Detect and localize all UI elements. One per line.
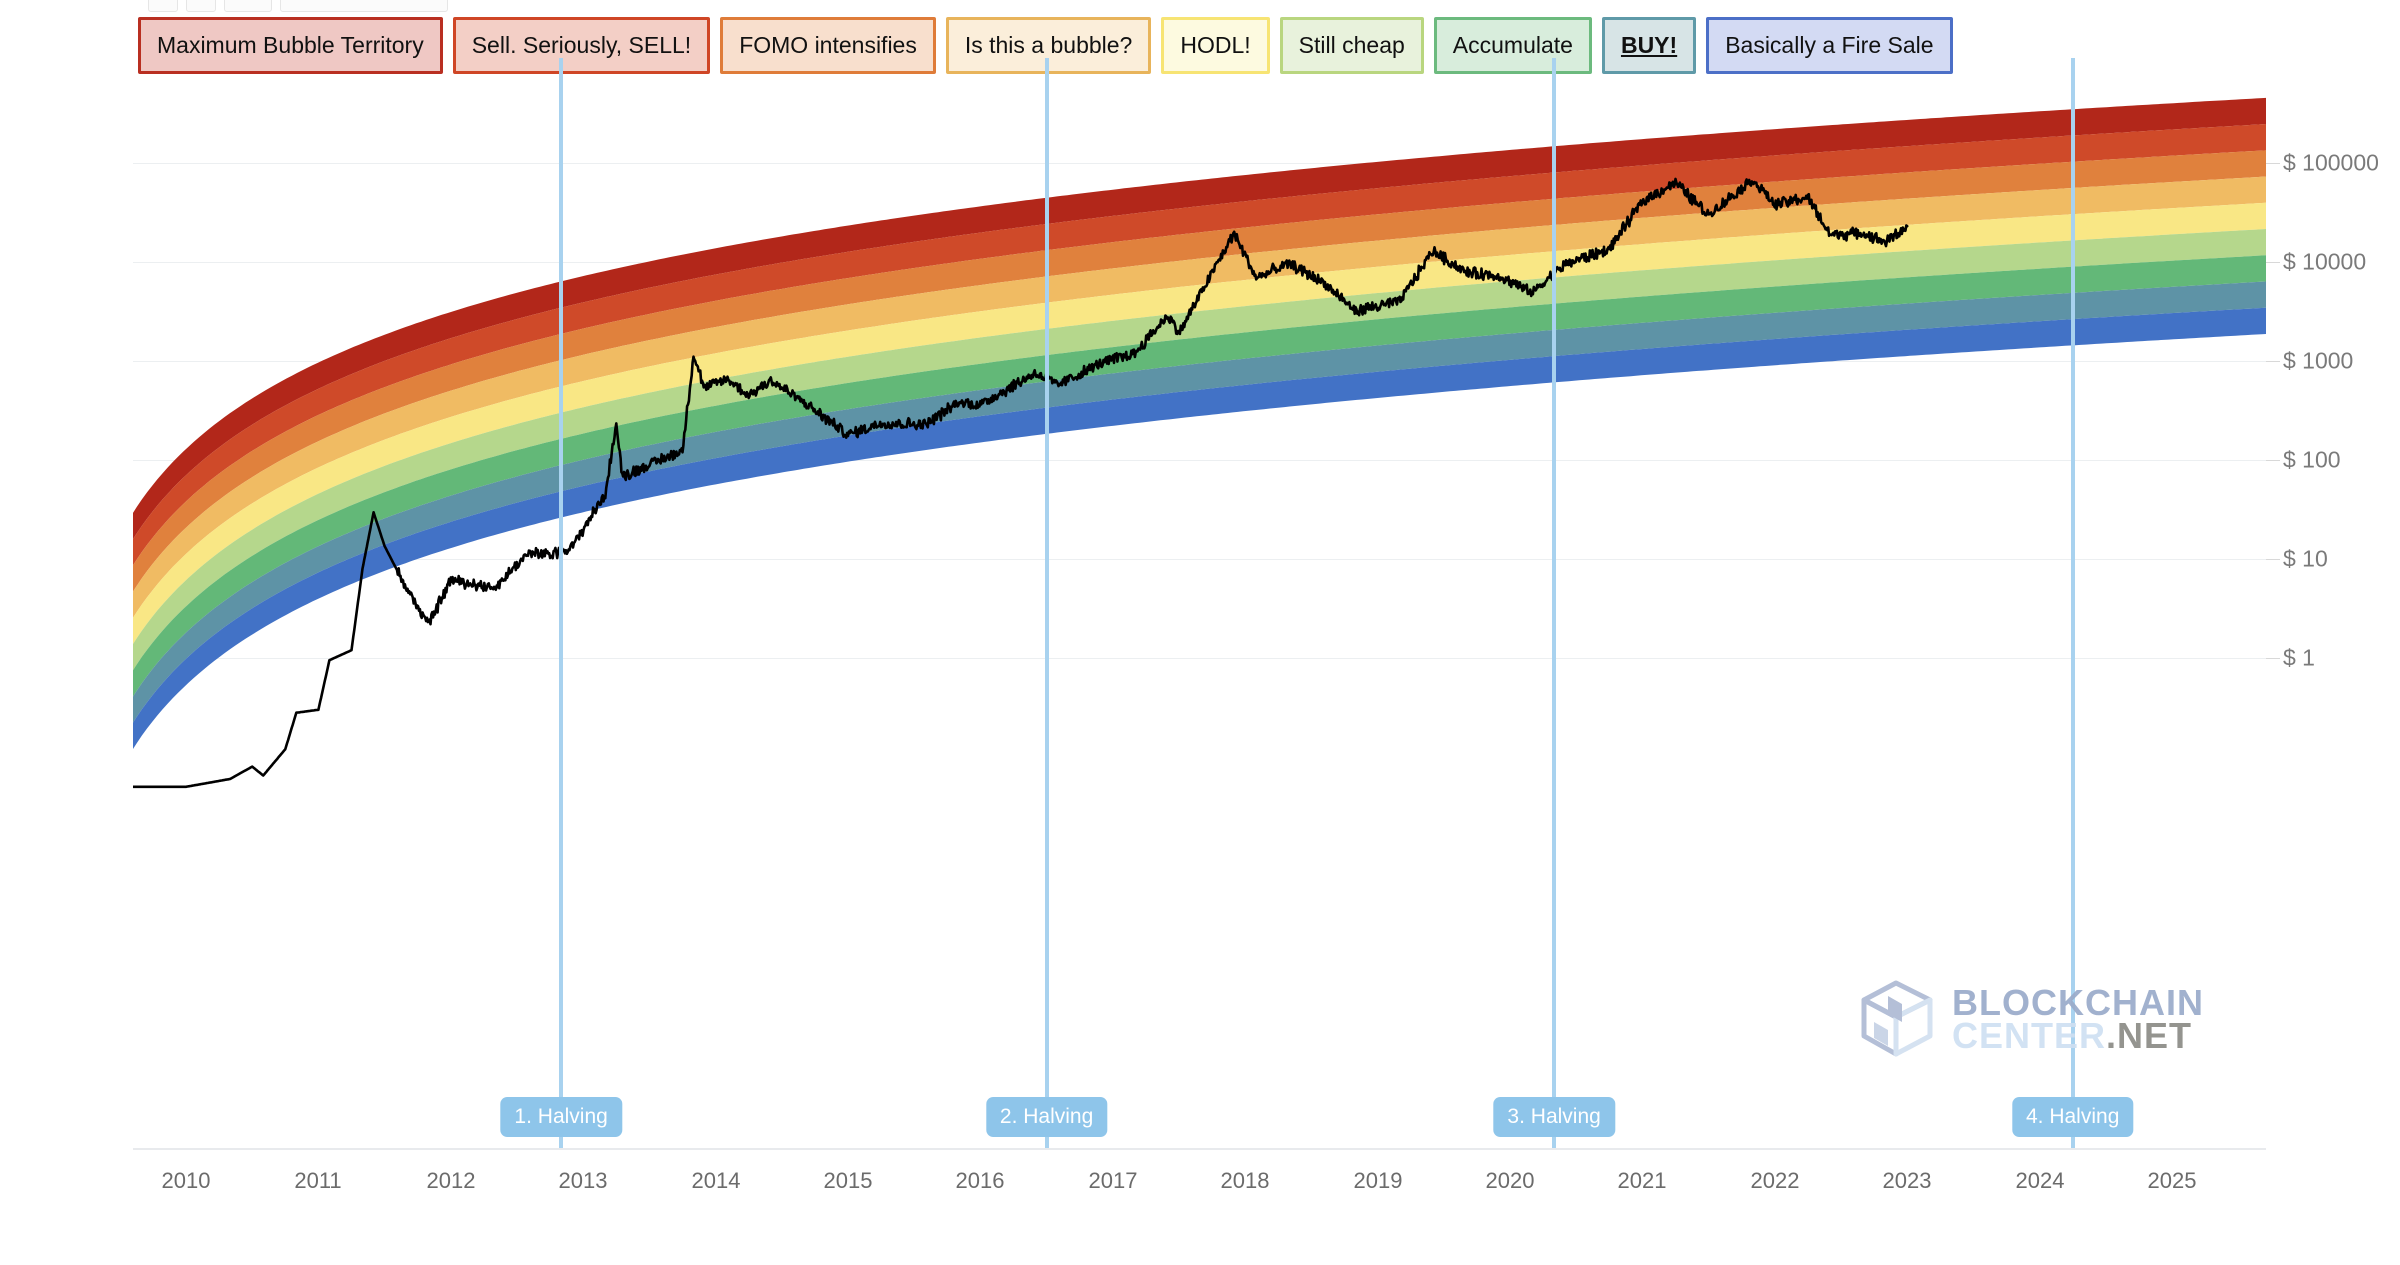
x-axis-label-2019: 2019 [1354, 1168, 1403, 1194]
btc-price-path [133, 179, 1907, 787]
legend-button-label: Still cheap [1299, 34, 1405, 57]
toolbar-field[interactable] [280, 0, 448, 12]
x-axis-label-2014: 2014 [692, 1168, 741, 1194]
legend-button-label: Basically a Fire Sale [1725, 34, 1933, 57]
btc-price-line [133, 96, 2266, 1149]
x-axis-label-2018: 2018 [1221, 1168, 1270, 1194]
legend-button-1[interactable]: Sell. Seriously, SELL! [453, 17, 710, 74]
x-axis-label-2022: 2022 [1751, 1168, 1800, 1194]
legend-button-label: Maximum Bubble Territory [157, 34, 424, 57]
y-axis-label-3: $ 100 [2283, 447, 2341, 474]
plot-area [133, 96, 2266, 1149]
x-axis-label-2013: 2013 [559, 1168, 608, 1194]
legend-button-label: BUY! [1621, 34, 1677, 57]
legend-button-label: Accumulate [1453, 34, 1573, 57]
legend-button-2[interactable]: FOMO intensifies [720, 17, 936, 74]
halving-badge-4[interactable]: 4. Halving [2012, 1097, 2133, 1137]
legend-button-label: Sell. Seriously, SELL! [472, 34, 691, 57]
y-tick-1 [2266, 262, 2280, 263]
y-axis-label-1: $ 10000 [2283, 249, 2366, 276]
halving-line-1 [559, 58, 563, 1148]
toolbar-button-2[interactable] [186, 0, 216, 12]
x-axis-label-2012: 2012 [427, 1168, 476, 1194]
halving-line-3 [1552, 58, 1556, 1148]
y-tick-3 [2266, 460, 2280, 461]
toolbar-sliver [148, 0, 448, 12]
halving-badge-3[interactable]: 3. Halving [1493, 1097, 1614, 1137]
legend-button-4[interactable]: HODL! [1161, 17, 1269, 74]
legend-button-label: Is this a bubble? [965, 34, 1133, 57]
x-axis-label-2025: 2025 [2148, 1168, 2197, 1194]
y-axis-label-2: $ 1000 [2283, 348, 2353, 375]
legend-button-7[interactable]: BUY! [1602, 17, 1696, 74]
rainbow-chart-page: Maximum Bubble TerritorySell. Seriously,… [0, 0, 2400, 1265]
legend-button-3[interactable]: Is this a bubble? [946, 17, 1152, 74]
legend-button-5[interactable]: Still cheap [1280, 17, 1424, 74]
halving-line-4 [2071, 58, 2075, 1148]
x-axis-label-2011: 2011 [294, 1168, 341, 1194]
halving-line-2 [1045, 58, 1049, 1148]
y-tick-2 [2266, 361, 2280, 362]
y-tick-0 [2266, 163, 2280, 164]
legend-button-8[interactable]: Basically a Fire Sale [1706, 17, 1952, 74]
y-axis-label-4: $ 10 [2283, 546, 2328, 573]
halving-badge-2[interactable]: 2. Halving [986, 1097, 1107, 1137]
y-axis-label-5: $ 1 [2283, 645, 2315, 672]
legend-button-0[interactable]: Maximum Bubble Territory [138, 17, 443, 74]
legend-button-label: FOMO intensifies [739, 34, 917, 57]
x-axis-label-2017: 2017 [1089, 1168, 1138, 1194]
x-axis-label-2020: 2020 [1486, 1168, 1535, 1194]
legend-button-6[interactable]: Accumulate [1434, 17, 1592, 74]
toolbar-button-3[interactable] [224, 0, 272, 12]
legend-button-label: HODL! [1180, 34, 1250, 57]
x-axis-label-2021: 2021 [1618, 1168, 1667, 1194]
y-tick-5 [2266, 658, 2280, 659]
toolbar-button-1[interactable] [148, 0, 178, 12]
y-tick-4 [2266, 559, 2280, 560]
x-axis-label-2016: 2016 [956, 1168, 1005, 1194]
x-axis-label-2023: 2023 [1883, 1168, 1932, 1194]
y-axis-label-0: $ 100000 [2283, 150, 2379, 177]
x-axis-label-2015: 2015 [824, 1168, 873, 1194]
x-axis-label-2010: 2010 [162, 1168, 211, 1194]
halving-badge-1[interactable]: 1. Halving [500, 1097, 621, 1137]
x-axis-label-2024: 2024 [2016, 1168, 2065, 1194]
